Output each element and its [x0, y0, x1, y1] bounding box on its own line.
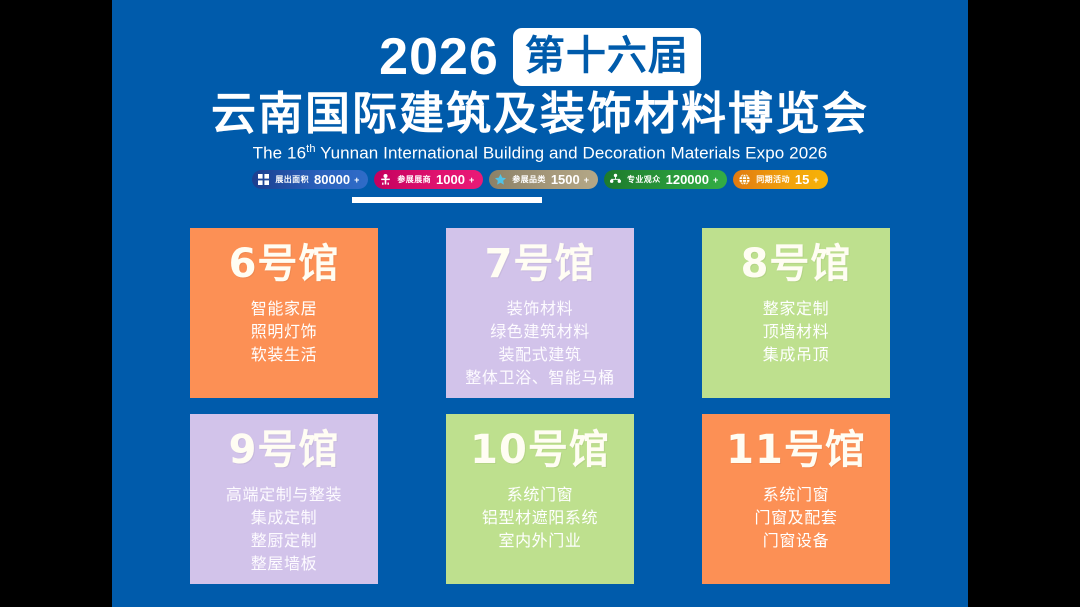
hall-item-list: 系统门窗 门窗及配套 门窗设备 — [702, 483, 890, 553]
hall-item: 整体卫浴、智能马桶 — [446, 366, 634, 389]
hall-title: 11号馆 — [726, 428, 866, 473]
title-row: 2026 第十六届 — [112, 26, 968, 88]
stats-badge-row: 展出面积 80000 + 参展展商 1000 + 参展品类 — [112, 170, 968, 189]
hall-item: 铝型材遮阳系统 — [446, 506, 634, 529]
hall-card-9[interactable]: 9号馆 高端定制与整装 集成定制 整厨定制 整屋墙板 — [190, 414, 378, 584]
star-icon — [494, 173, 507, 186]
stat-value: 120000 — [666, 172, 709, 187]
globe-icon — [738, 173, 751, 186]
hall-item: 门窗及配套 — [702, 506, 890, 529]
edition-badge: 第十六届 — [513, 28, 701, 86]
english-subtitle: The 16th Yunnan International Building a… — [112, 142, 968, 165]
hall-item: 室内外门业 — [446, 529, 634, 552]
hall-title: 8号馆 — [741, 242, 852, 287]
subtitle-suffix: Yunnan International Building and Decora… — [316, 144, 828, 163]
hall-card-7[interactable]: 7号馆 装饰材料 绿色建筑材料 装配式建筑 整体卫浴、智能马桶 — [446, 228, 634, 398]
hall-item: 整厨定制 — [190, 529, 378, 552]
hall-item: 装配式建筑 — [446, 343, 634, 366]
poster-header: 2026 第十六届 云南国际建筑及装饰材料博览会 The 16th Yunnan… — [112, 0, 968, 215]
hall-grid: 6号馆 智能家居 照明灯饰 软装生活 7号馆 装饰材料 绿色建筑材料 装配式建筑… — [190, 228, 890, 584]
hall-item: 智能家居 — [190, 297, 378, 320]
hall-item: 集成吊顶 — [702, 343, 890, 366]
hall-card-8[interactable]: 8号馆 整家定制 顶墙材料 集成吊顶 — [702, 228, 890, 398]
hall-item: 门窗设备 — [702, 529, 890, 552]
hall-item-list: 高端定制与整装 集成定制 整厨定制 整屋墙板 — [190, 483, 378, 576]
hall-card-10[interactable]: 10号馆 系统门窗 铝型材遮阳系统 室内外门业 — [446, 414, 634, 584]
hall-item-list: 装饰材料 绿色建筑材料 装配式建筑 整体卫浴、智能马桶 — [446, 297, 634, 390]
stat-label: 同期活动 — [756, 174, 790, 185]
hall-card-11[interactable]: 11号馆 系统门窗 门窗及配套 门窗设备 — [702, 414, 890, 584]
hall-title: 9号馆 — [229, 428, 340, 473]
header-underline — [352, 197, 542, 203]
stat-suffix: + — [354, 175, 359, 185]
audience-group-icon — [609, 173, 622, 186]
screenshot-stage: 2026 第十六届 云南国际建筑及装饰材料博览会 The 16th Yunnan… — [0, 0, 1080, 607]
hall-item: 系统门窗 — [702, 483, 890, 506]
hall-item: 高端定制与整装 — [190, 483, 378, 506]
hall-item: 软装生活 — [190, 343, 378, 366]
hall-title: 10号馆 — [470, 428, 610, 473]
hall-title: 7号馆 — [485, 242, 596, 287]
hall-title: 6号馆 — [229, 242, 340, 287]
expo-poster: 2026 第十六届 云南国际建筑及装饰材料博览会 The 16th Yunnan… — [112, 0, 968, 607]
stat-suffix: + — [713, 175, 718, 185]
stat-label: 参展展商 — [397, 174, 431, 185]
subtitle-prefix: The 16 — [253, 144, 307, 163]
stat-suffix: + — [469, 175, 474, 185]
hall-item: 顶墙材料 — [702, 320, 890, 343]
hall-item: 整屋墙板 — [190, 552, 378, 575]
hall-item: 照明灯饰 — [190, 320, 378, 343]
stat-badge-categories: 参展品类 1500 + — [489, 170, 598, 189]
stat-label: 展出面积 — [275, 174, 309, 185]
stat-badge-exhibition-area: 展出面积 80000 + — [252, 170, 368, 189]
stat-value: 80000 — [314, 172, 350, 187]
hall-item-list: 系统门窗 铝型材遮阳系统 室内外门业 — [446, 483, 634, 553]
stat-value: 15 — [795, 172, 809, 187]
stat-value: 1500 — [551, 172, 580, 187]
hall-item: 整家定制 — [702, 297, 890, 320]
hall-item: 绿色建筑材料 — [446, 320, 634, 343]
hall-item: 装饰材料 — [446, 297, 634, 320]
hall-card-6[interactable]: 6号馆 智能家居 照明灯饰 软装生活 — [190, 228, 378, 398]
stat-badge-visitors: 专业观众 120000 + — [604, 170, 727, 189]
subtitle-ordinal: th — [306, 143, 315, 155]
year-text: 2026 — [379, 31, 499, 83]
hall-item-list: 整家定制 顶墙材料 集成吊顶 — [702, 297, 890, 367]
grid-squares-icon — [257, 173, 270, 186]
hall-item: 集成定制 — [190, 506, 378, 529]
exhibitor-person-icon — [379, 173, 392, 186]
stat-badge-exhibitors: 参展展商 1000 + — [374, 170, 483, 189]
hall-item-list: 智能家居 照明灯饰 软装生活 — [190, 297, 378, 367]
stat-value: 1000 — [436, 172, 465, 187]
hall-item: 系统门窗 — [446, 483, 634, 506]
stat-suffix: + — [813, 175, 818, 185]
stat-label: 专业观众 — [627, 174, 661, 185]
stat-label: 参展品类 — [512, 174, 546, 185]
stat-suffix: + — [584, 175, 589, 185]
stat-badge-events: 同期活动 15 + — [733, 170, 827, 189]
page-title: 云南国际建筑及装饰材料博览会 — [112, 90, 968, 139]
